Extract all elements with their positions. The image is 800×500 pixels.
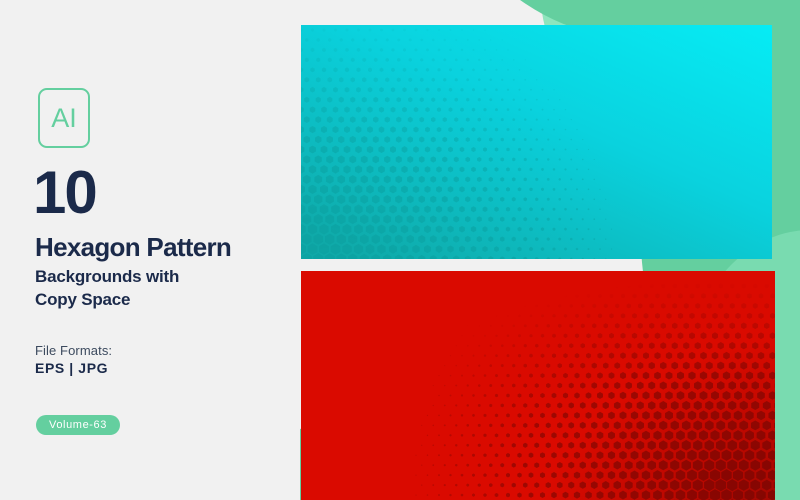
page-subtitle: Backgrounds with Copy Space <box>35 266 179 311</box>
page-subtitle-line-1: Backgrounds with <box>35 266 179 289</box>
red-hexagon-preview <box>301 271 775 500</box>
volume-badge: Volume-63 <box>36 415 120 435</box>
info-column: AI 10 Hexagon Pattern Backgrounds with C… <box>0 0 300 500</box>
product-preview-card: AI 10 Hexagon Pattern Backgrounds with C… <box>0 0 800 500</box>
ai-badge-label: AI <box>51 105 77 132</box>
page-subtitle-line-2: Copy Space <box>35 289 179 312</box>
page-title: Hexagon Pattern <box>35 234 231 260</box>
file-formats-label: File Formats: <box>35 343 112 358</box>
adobe-illustrator-icon: AI <box>38 88 90 148</box>
item-count: 10 <box>33 163 96 223</box>
cyan-hexagon-pattern <box>301 25 772 259</box>
red-hexagon-pattern <box>301 271 775 500</box>
volume-badge-label: Volume-63 <box>49 419 107 431</box>
file-formats-value: EPS | JPG <box>35 360 108 376</box>
cyan-hexagon-preview <box>301 25 772 259</box>
